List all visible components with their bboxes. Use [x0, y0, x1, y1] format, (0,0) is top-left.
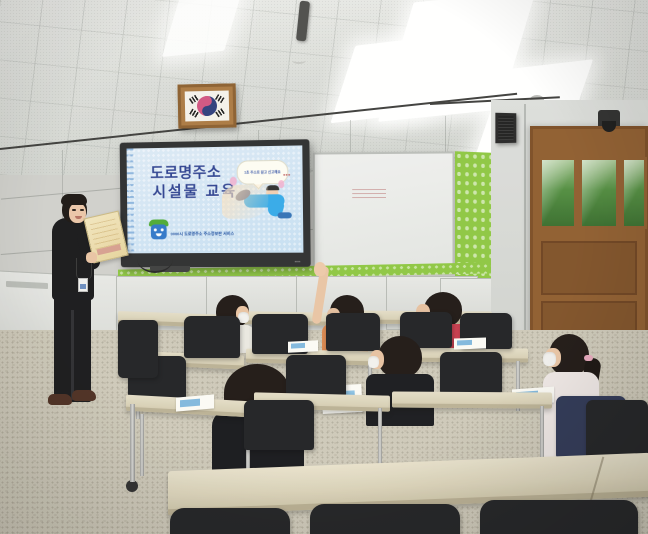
presentation-slide: 도로명주소 시설물 교육 1초 주소로 걸고 신고해요	[127, 145, 304, 253]
presenter-leg-split	[71, 310, 74, 400]
chair-stack-leg	[130, 404, 135, 482]
wall-seam-v4	[445, 116, 446, 152]
chair-foreground-3[interactable]	[170, 508, 290, 534]
presenter-shoe-right	[72, 390, 96, 401]
chair-back-3[interactable]	[326, 313, 380, 351]
chair-foreground-1[interactable]	[310, 504, 460, 534]
id-badge	[78, 278, 88, 292]
slide-footer-text: 0000시 도로명주소 주소정보판 서비스	[171, 231, 235, 237]
student-head	[378, 336, 422, 378]
display-brand-label: ▪▪▪▪	[295, 259, 301, 264]
sprinkler-head-icon	[292, 57, 306, 64]
slide-mascot-icon	[149, 219, 169, 241]
green-wall-panel	[455, 151, 491, 280]
chair-foreground-2[interactable]	[480, 500, 638, 534]
whiteboard-marker-text	[352, 188, 386, 198]
handout-back-1	[288, 340, 318, 353]
door-window-left	[539, 157, 577, 229]
presenter-hair	[61, 194, 87, 205]
desk-leg-f1	[140, 414, 144, 476]
door-window-center	[579, 157, 619, 229]
chair-front-1[interactable]	[244, 400, 314, 450]
wall-seam-v3	[350, 120, 351, 152]
presenter-eye-left	[72, 209, 76, 211]
flag-field	[185, 91, 230, 122]
desk-leg-f3	[378, 408, 382, 464]
student-mask	[368, 356, 379, 368]
right-wall-seam	[524, 104, 526, 364]
slide-title-line1: 도로명주소	[150, 163, 237, 183]
classroom-photo: 도로명주소 시설물 교육 1초 주소로 걸고 신고해요	[0, 0, 648, 534]
slide-balloon-1	[230, 177, 237, 186]
slide-corner-logo: ●●●	[283, 172, 290, 177]
trigram-icon-br	[215, 108, 225, 117]
presenter-eye-right	[80, 209, 84, 211]
door-lower-panel	[541, 241, 637, 295]
chair-stack-left-1[interactable]	[118, 320, 158, 378]
whiteboard	[313, 151, 455, 272]
south-korean-flag	[178, 83, 237, 128]
slide-balloon-2	[278, 180, 284, 188]
handout-back-2	[454, 337, 486, 349]
door-window-right	[621, 157, 647, 229]
chair-mid-2[interactable]	[286, 355, 346, 397]
presenter-hand	[86, 252, 97, 263]
student-mask	[543, 352, 556, 366]
presenter-shoe-left	[48, 394, 72, 405]
hair-tie-icon	[584, 355, 593, 361]
desk-leg-f4	[540, 406, 544, 462]
presentation-display[interactable]: 도로명주소 시설물 교육 1초 주소로 걸고 신고해요	[120, 139, 311, 267]
wall-speaker	[495, 113, 516, 144]
security-camera-icon	[598, 110, 620, 126]
desk-front-right	[392, 391, 552, 408]
classroom-door[interactable]	[530, 126, 648, 360]
chair-back-1[interactable]	[184, 316, 240, 358]
raised-hand	[314, 262, 326, 276]
chair-mid-3[interactable]	[440, 352, 502, 394]
